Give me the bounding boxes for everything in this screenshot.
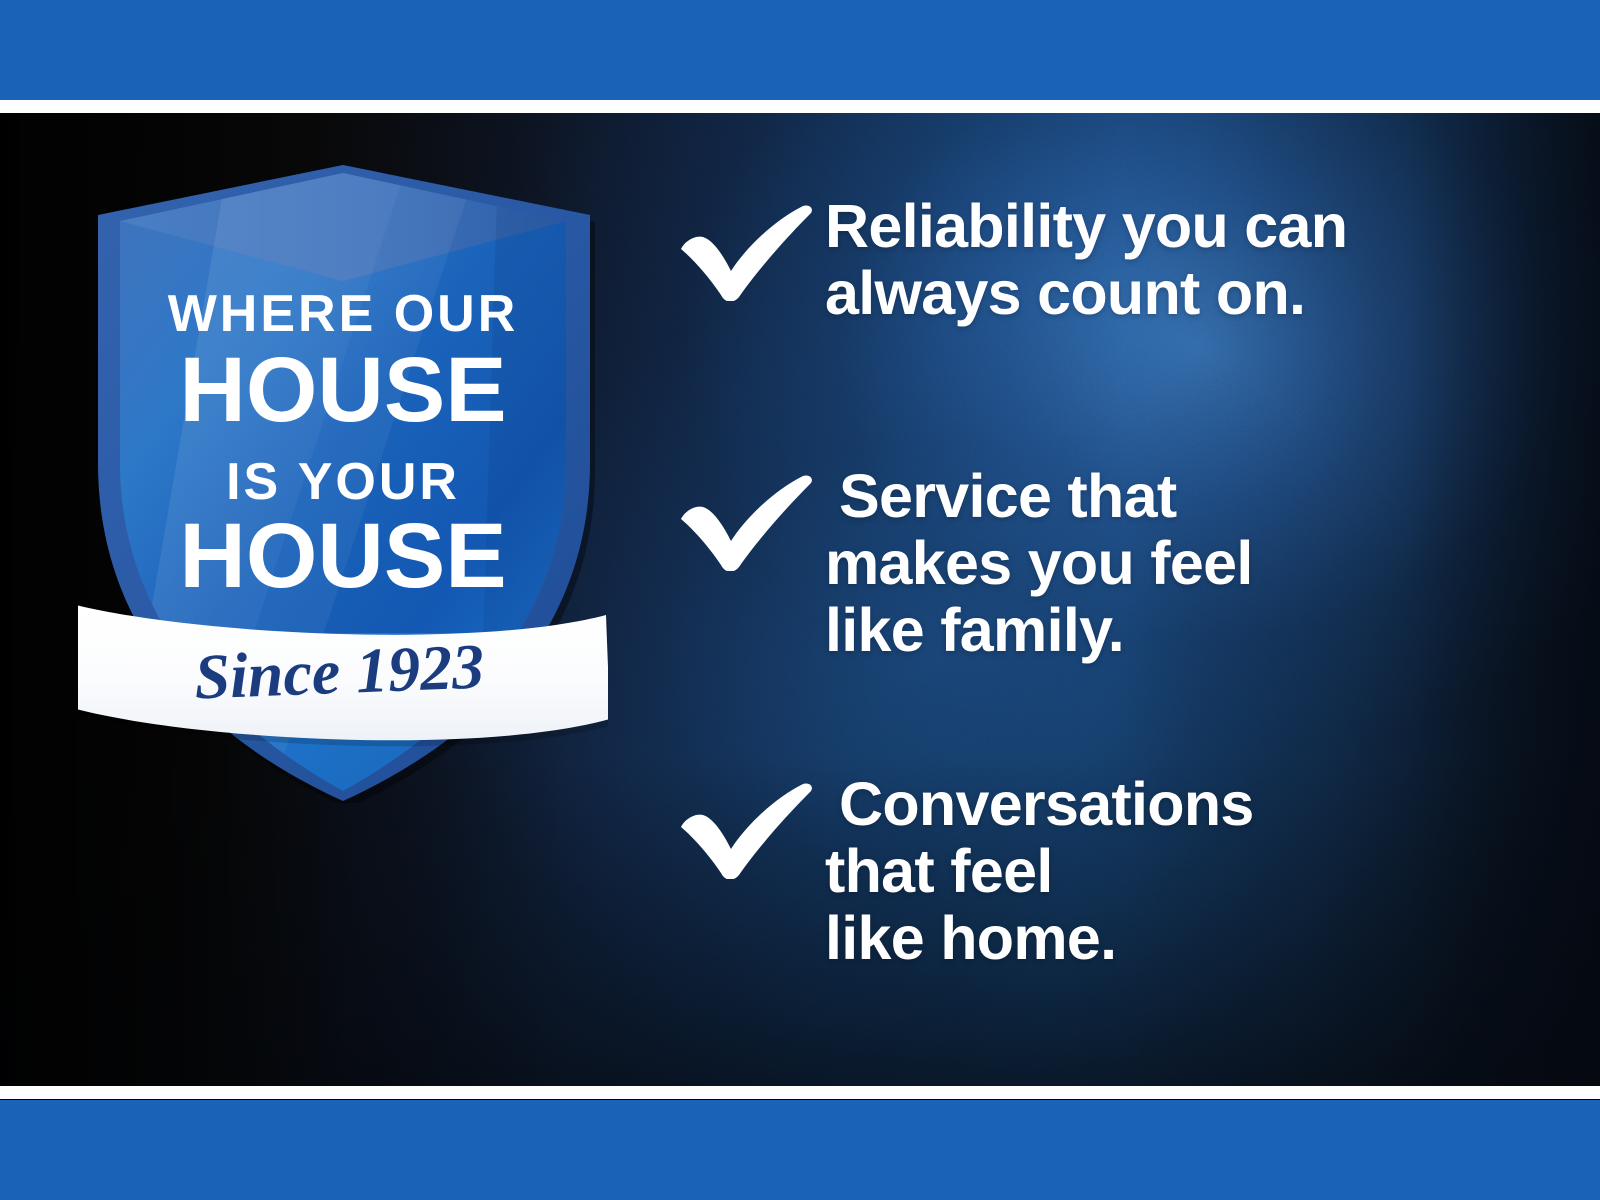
badge-line-1: WHERE OUR: [168, 285, 519, 343]
list-item-line: Service that: [839, 463, 1505, 530]
ribbon-script-text: Since 1923: [193, 630, 485, 712]
list-item-text: Reliability you can always count on.: [825, 193, 1505, 327]
bottom-brand-bar: [0, 1100, 1600, 1200]
badge-line-3: IS YOUR: [226, 453, 460, 511]
badge-line-2: HOUSE: [179, 339, 506, 441]
list-item-line: like home.: [825, 905, 1505, 972]
list-item: Conversations that feel like home.: [675, 783, 1505, 972]
check-icon: [675, 205, 825, 301]
list-item-text: Service that makes you feel like family.: [825, 463, 1505, 664]
top-divider-rule: [0, 100, 1600, 113]
promo-graphic: WHERE OUR HOUSE IS YOUR HOUSE Since 1923: [0, 0, 1600, 1200]
list-item-line: Reliability you can: [825, 193, 1505, 260]
top-brand-bar: [0, 0, 1600, 100]
check-icon: [675, 783, 825, 879]
list-item: Service that makes you feel like family.: [675, 475, 1505, 664]
badge-line-4: HOUSE: [179, 505, 506, 607]
list-item-line: that feel: [825, 838, 1505, 905]
check-icon: [675, 475, 825, 571]
benefits-list: Reliability you can always count on. Ser…: [675, 113, 1505, 1086]
list-item-text: Conversations that feel like home.: [825, 771, 1505, 972]
list-item-line: like family.: [825, 597, 1505, 664]
shield-badge: WHERE OUR HOUSE IS YOUR HOUSE Since 1923: [78, 163, 608, 803]
list-item: Reliability you can always count on.: [675, 205, 1505, 327]
list-item-line: always count on.: [825, 260, 1505, 327]
list-item-line: Conversations: [839, 771, 1505, 838]
bottom-divider-rule: [0, 1086, 1600, 1099]
list-item-line: makes you feel: [825, 530, 1505, 597]
